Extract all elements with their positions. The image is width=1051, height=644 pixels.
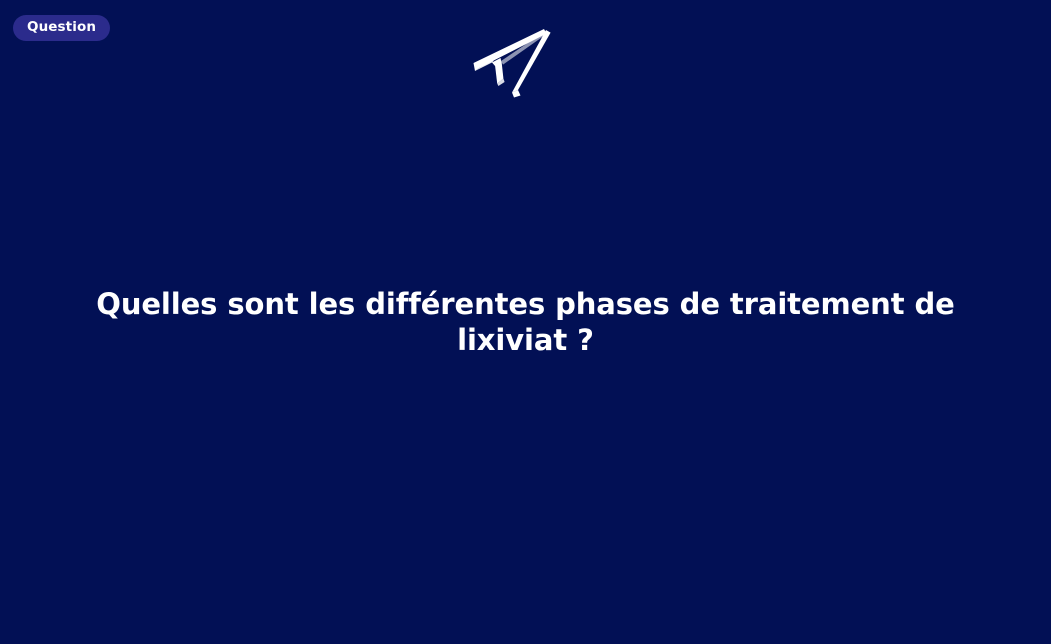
question-title: Quelles sont les différentes phases de t… [56,286,996,359]
paper-plane-icon [470,26,554,102]
status-badge-label: Question [27,21,96,35]
status-badge: Question [13,15,110,41]
question-page: Question Quelles sont les différ [0,0,1051,644]
